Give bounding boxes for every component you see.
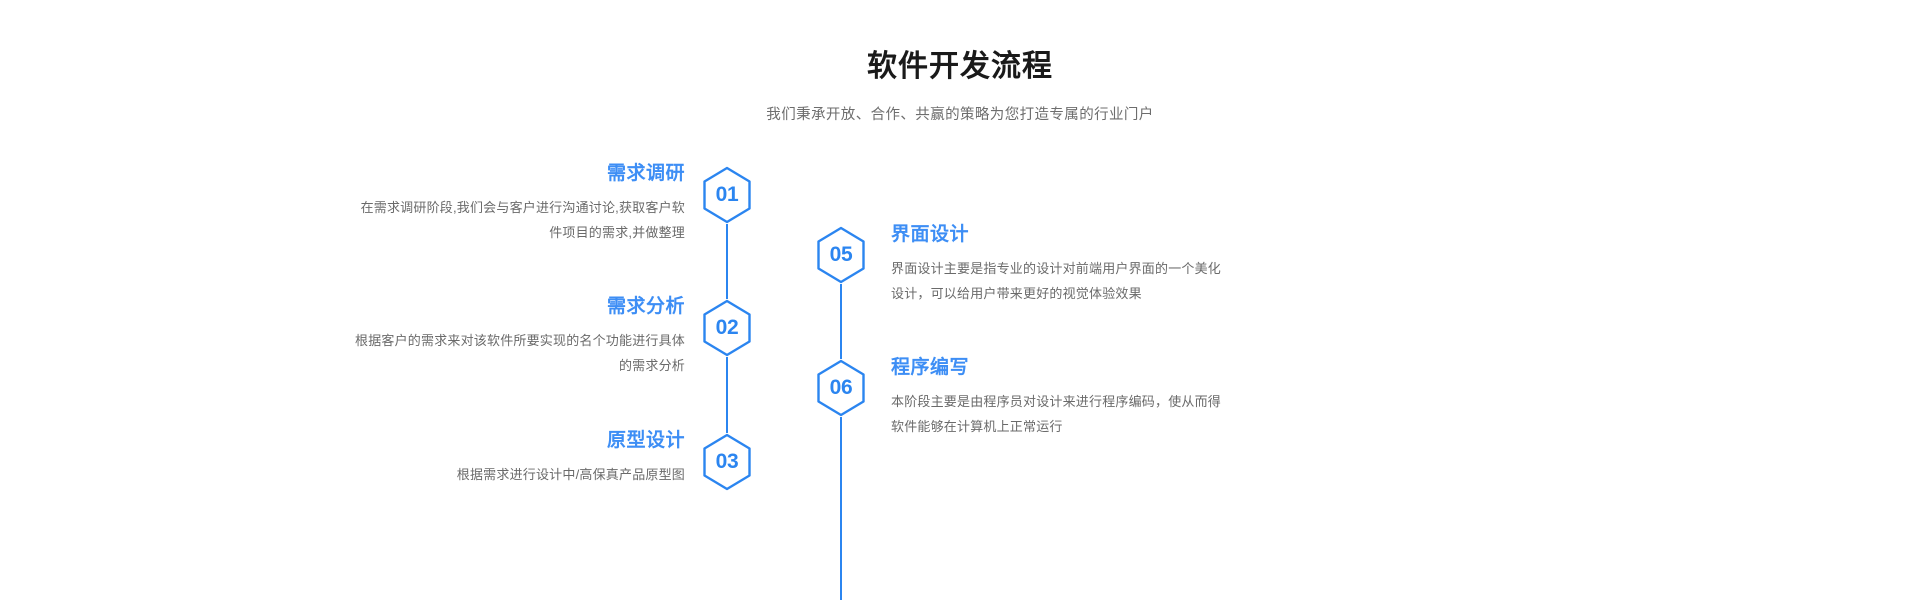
connector-06-07: [840, 417, 842, 600]
process-flow-diagram: 需求调研 在需求调研阶段,我们会与客户进行沟通讨论,获取客户软件项目的需求,并做…: [0, 0, 1920, 600]
step-title-06: 程序编写: [891, 354, 1221, 382]
step-title-02: 需求分析: [355, 293, 685, 321]
step-number-06: 06: [816, 359, 866, 417]
step-number-03: 03: [702, 433, 752, 491]
step-title-03: 原型设计: [355, 427, 685, 455]
step-number-02: 02: [702, 299, 752, 357]
step-desc-01: 在需求调研阶段,我们会与客户进行沟通讨论,获取客户软件项目的需求,并做整理: [355, 195, 685, 245]
hexagon-icon-02: 02: [702, 299, 752, 357]
step-title-01: 需求调研: [355, 160, 685, 188]
step-text-02: 需求分析 根据客户的需求来对该软件所要实现的名个功能进行具体的需求分析: [355, 293, 685, 378]
step-desc-03: 根据需求进行设计中/高保真产品原型图: [355, 462, 685, 487]
step-number-01: 01: [702, 166, 752, 224]
step-text-03: 原型设计 根据需求进行设计中/高保真产品原型图: [355, 427, 685, 487]
hexagon-icon-06: 06: [816, 359, 866, 417]
step-text-05: 界面设计 界面设计主要是指专业的设计对前端用户界面的一个美化设计，可以给用户带来…: [891, 221, 1221, 306]
hexagon-icon-05: 05: [816, 226, 866, 284]
hexagon-icon-03: 03: [702, 433, 752, 491]
step-number-05: 05: [816, 226, 866, 284]
connector-02-03: [726, 357, 728, 433]
software-development-process-page: 软件开发流程 我们秉承开放、合作、共赢的策略为您打造专属的行业门户 需求调研 在…: [0, 0, 1920, 600]
hexagon-icon-01: 01: [702, 166, 752, 224]
step-desc-02: 根据客户的需求来对该软件所要实现的名个功能进行具体的需求分析: [355, 328, 685, 378]
step-text-06: 程序编写 本阶段主要是由程序员对设计来进行程序编码，使从而得软件能够在计算机上正…: [891, 354, 1221, 439]
connector-05-06: [840, 284, 842, 359]
step-desc-06: 本阶段主要是由程序员对设计来进行程序编码，使从而得软件能够在计算机上正常运行: [891, 389, 1221, 439]
step-text-01: 需求调研 在需求调研阶段,我们会与客户进行沟通讨论,获取客户软件项目的需求,并做…: [355, 160, 685, 245]
connector-01-02: [726, 224, 728, 299]
step-desc-05: 界面设计主要是指专业的设计对前端用户界面的一个美化设计，可以给用户带来更好的视觉…: [891, 256, 1221, 306]
step-title-05: 界面设计: [891, 221, 1221, 249]
